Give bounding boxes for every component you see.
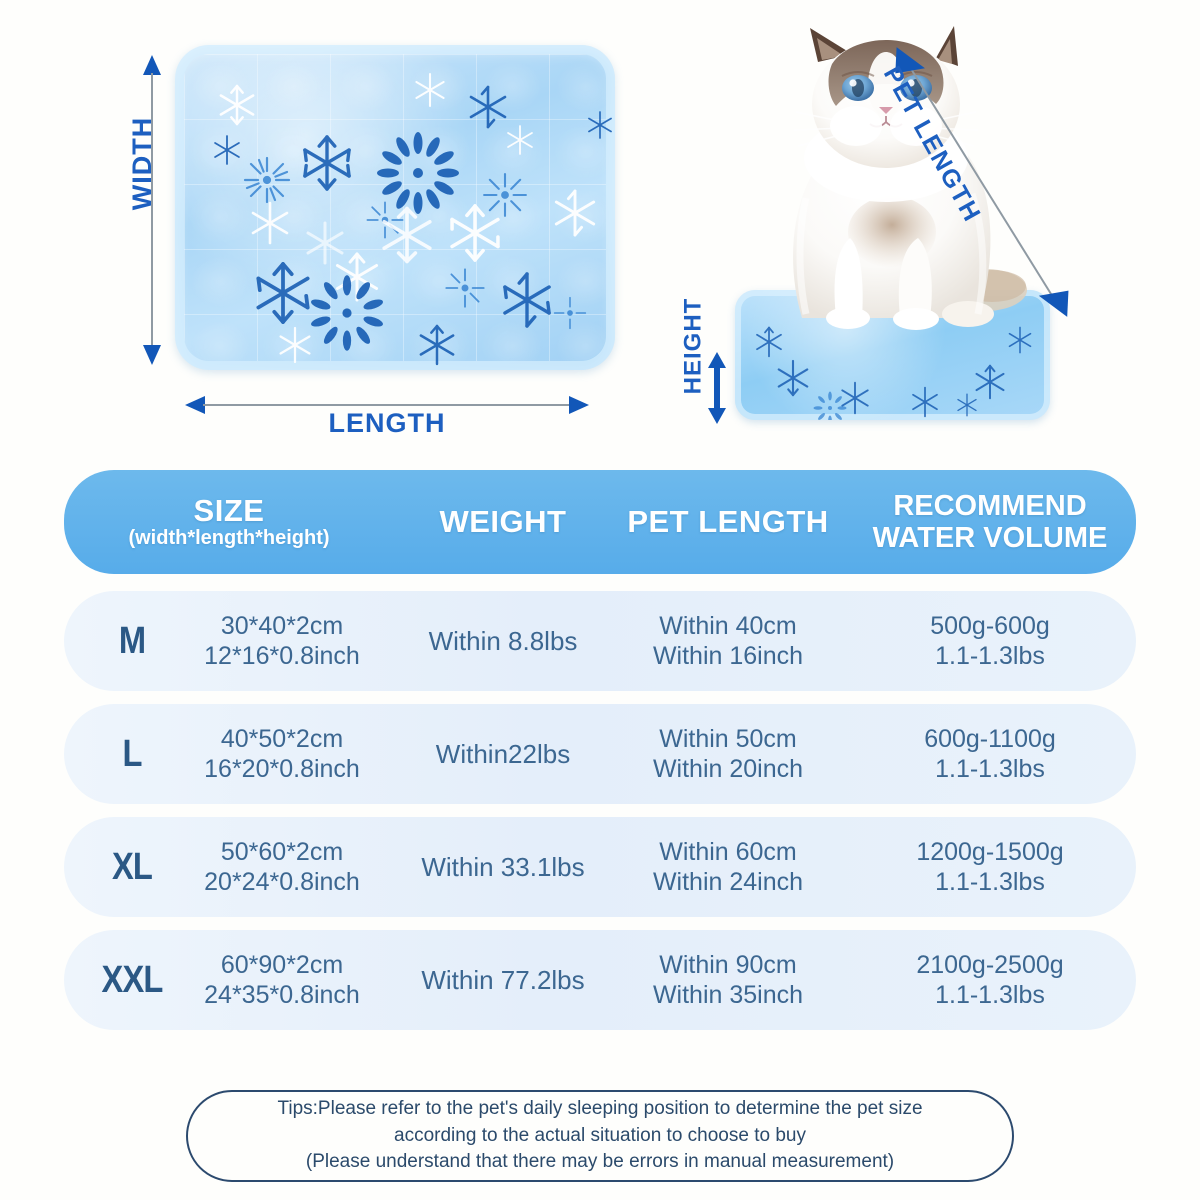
pet-length-cm: Within 90cm (612, 950, 844, 981)
cell-size: M 30*40*2cm 12*16*0.8inch (64, 611, 394, 672)
weight-value: Within22lbs (394, 739, 612, 770)
cell-pet-length: Within 90cm Within 35inch (612, 950, 844, 1011)
mat-diagram: WIDTH LENGTH (0, 0, 640, 465)
header-pet-length-label: PET LENGTH (612, 505, 844, 538)
cell-weight: Within22lbs (394, 739, 612, 770)
cooling-mat-illustration (175, 45, 615, 370)
tips-line-1: Tips:Please refer to the pet's daily sle… (277, 1096, 922, 1123)
table-row[interactable]: XL 50*60*2cm 20*24*0.8inch Within 33.1lb… (64, 817, 1136, 917)
dimension-cm: 60*90*2cm (178, 950, 386, 981)
header-water-line1: RECOMMEND (844, 490, 1136, 522)
arrow-up-icon (143, 55, 161, 75)
table-row[interactable]: M 30*40*2cm 12*16*0.8inch Within 8.8lbs … (64, 591, 1136, 691)
height-dimension-arrow (708, 352, 726, 424)
pet-length-inch: Within 35inch (612, 980, 844, 1011)
weight-value: Within 8.8lbs (394, 626, 612, 657)
pet-length-cm: Within 60cm (612, 837, 844, 868)
weight-value: Within 77.2lbs (394, 965, 612, 996)
length-label: LENGTH (185, 408, 589, 439)
arrow-down-icon (708, 408, 726, 424)
cell-pet-length: Within 60cm Within 24inch (612, 837, 844, 898)
cell-water-volume: 600g-1100g 1.1-1.3lbs (844, 724, 1136, 785)
header-cell-pet-length: PET LENGTH (612, 505, 844, 538)
mat-snowflake-pattern (175, 45, 615, 370)
size-label: XL (92, 846, 171, 889)
tips-line-3: (Please understand that there may be err… (306, 1149, 894, 1176)
cell-weight: Within 77.2lbs (394, 965, 612, 996)
header-weight-label: WEIGHT (394, 505, 612, 538)
pet-length-cm: Within 50cm (612, 724, 844, 755)
size-dimensions: 50*60*2cm 20*24*0.8inch (178, 837, 394, 898)
pet-length-inch: Within 16inch (612, 641, 844, 672)
size-dimensions: 60*90*2cm 24*35*0.8inch (178, 950, 394, 1011)
table-header-row: SIZE (width*length*height) WEIGHT PET LE… (64, 470, 1136, 574)
pet-length-inch: Within 24inch (612, 867, 844, 898)
water-lbs: 1.1-1.3lbs (844, 867, 1136, 898)
dimension-line (203, 404, 571, 406)
water-grams: 500g-600g (844, 611, 1136, 642)
cell-size: XXL 60*90*2cm 24*35*0.8inch (64, 950, 394, 1011)
size-dimensions: 40*50*2cm 16*20*0.8inch (178, 724, 394, 785)
water-lbs: 1.1-1.3lbs (844, 754, 1136, 785)
table-row[interactable]: XXL 60*90*2cm 24*35*0.8inch Within 77.2l… (64, 930, 1136, 1030)
dimension-inch: 12*16*0.8inch (178, 641, 386, 672)
arrow-down-icon (143, 345, 161, 365)
cell-water-volume: 500g-600g 1.1-1.3lbs (844, 611, 1136, 672)
size-dimensions: 30*40*2cm 12*16*0.8inch (178, 611, 394, 672)
table-row[interactable]: L 40*50*2cm 16*20*0.8inch Within22lbs Wi… (64, 704, 1136, 804)
water-grams: 600g-1100g (844, 724, 1136, 755)
cell-water-volume: 1200g-1500g 1.1-1.3lbs (844, 837, 1136, 898)
water-grams: 1200g-1500g (844, 837, 1136, 868)
dimension-cm: 50*60*2cm (178, 837, 386, 868)
header-water-line2: WATER VOLUME (844, 522, 1136, 554)
water-grams: 2100g-2500g (844, 950, 1136, 981)
cell-weight: Within 33.1lbs (394, 852, 612, 883)
dimension-cm: 40*50*2cm (178, 724, 386, 755)
size-label: M (92, 620, 171, 663)
header-cell-size: SIZE (width*length*height) (64, 494, 394, 550)
header-cell-water-volume: RECOMMEND WATER VOLUME (844, 490, 1136, 555)
product-dimension-diagrams: WIDTH LENGTH (0, 0, 1200, 465)
cell-pet-length: Within 50cm Within 20inch (612, 724, 844, 785)
header-cell-weight: WEIGHT (394, 505, 612, 538)
tips-box: Tips:Please refer to the pet's daily sle… (186, 1090, 1014, 1182)
cell-weight: Within 8.8lbs (394, 626, 612, 657)
height-label: HEIGHT (679, 298, 707, 395)
dimension-inch: 24*35*0.8inch (178, 980, 386, 1011)
cell-size: L 40*50*2cm 16*20*0.8inch (64, 724, 394, 785)
cell-size: XL 50*60*2cm 20*24*0.8inch (64, 837, 394, 898)
weight-value: Within 33.1lbs (394, 852, 612, 883)
width-label: WIDTH (127, 117, 158, 210)
size-label: L (92, 733, 171, 776)
dimension-inch: 20*24*0.8inch (178, 867, 386, 898)
pet-length-cm: Within 40cm (612, 611, 844, 642)
tips-line-2: according to the actual situation to cho… (394, 1123, 806, 1150)
cell-water-volume: 2100g-2500g 1.1-1.3lbs (844, 950, 1136, 1011)
header-size-sub: (width*length*height) (64, 527, 394, 550)
water-lbs: 1.1-1.3lbs (844, 641, 1136, 672)
pet-length-inch: Within 20inch (612, 754, 844, 785)
dimension-inch: 16*20*0.8inch (178, 754, 386, 785)
pet-measurement-diagram: PET LENGTH HEIGHT (640, 0, 1200, 465)
dimension-line (714, 366, 720, 410)
size-chart-table: SIZE (width*length*height) WEIGHT PET LE… (0, 470, 1200, 1043)
dimension-cm: 30*40*2cm (178, 611, 386, 642)
size-label: XXL (92, 959, 171, 1002)
header-size-main: SIZE (64, 494, 394, 527)
cell-pet-length: Within 40cm Within 16inch (612, 611, 844, 672)
water-lbs: 1.1-1.3lbs (844, 980, 1136, 1011)
